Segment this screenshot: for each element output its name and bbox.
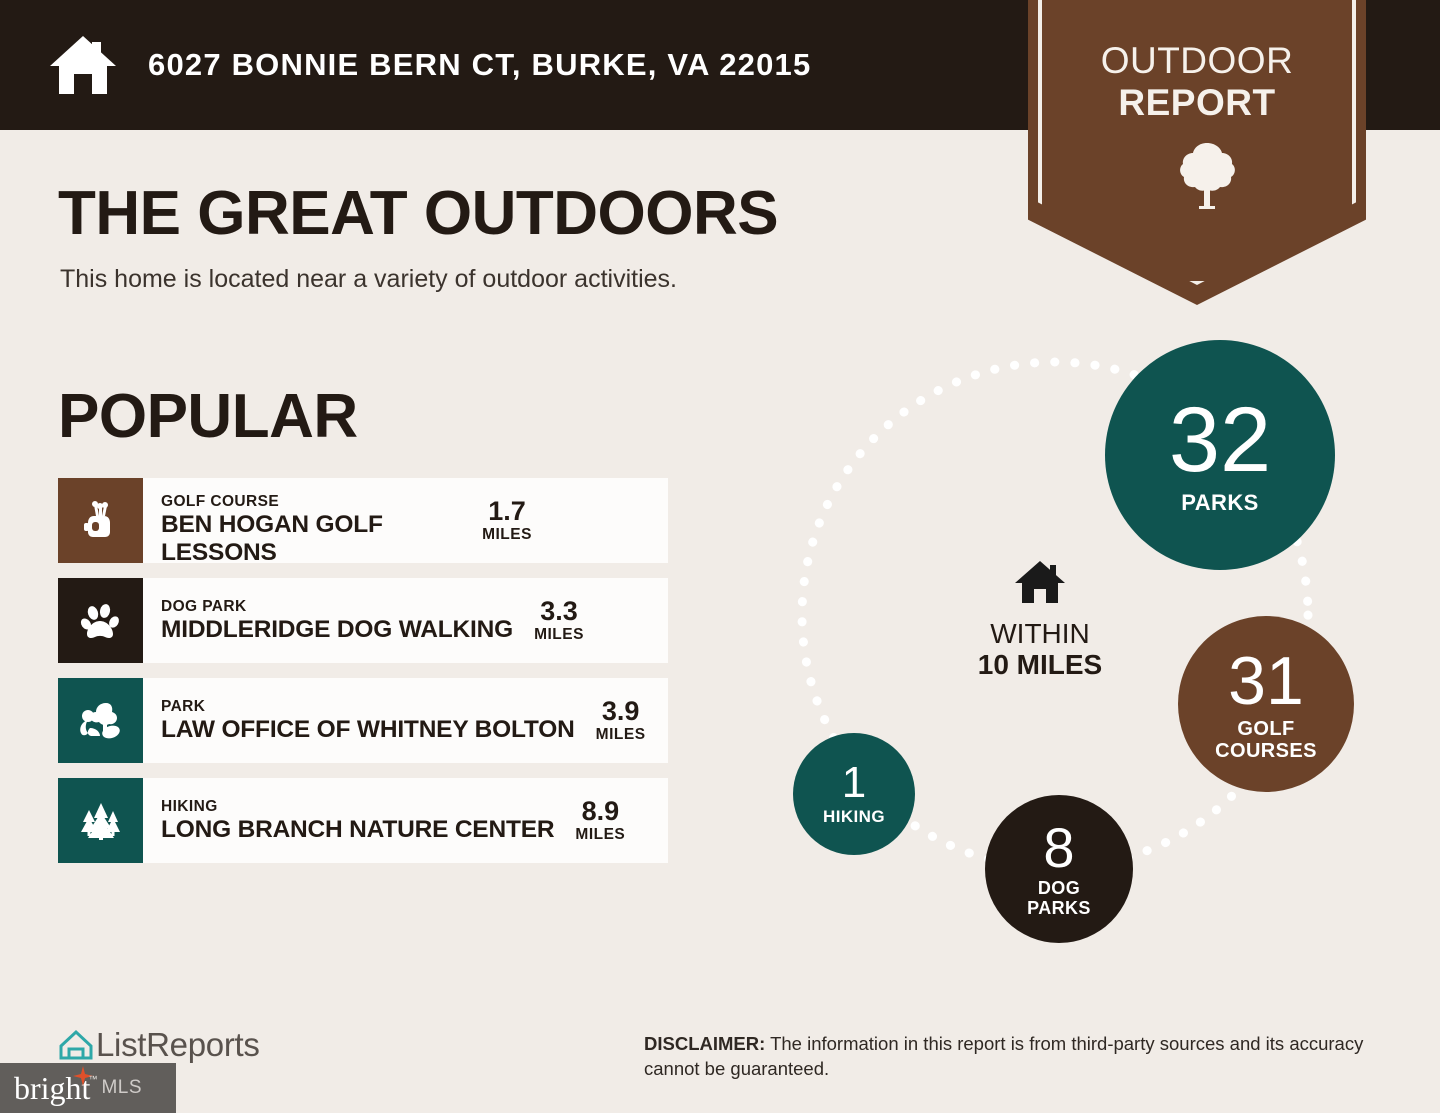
distance-value: 3.9 bbox=[581, 697, 661, 726]
popular-heading: POPULAR bbox=[58, 381, 358, 452]
distance-value: 8.9 bbox=[560, 797, 640, 826]
bubble-count: 31 bbox=[1228, 647, 1304, 715]
outdoor-report-page: 6027 BONNIE BERN CT, BURKE, VA 22015 OUT… bbox=[0, 0, 1440, 1113]
list-item-text: GOLF COURSE BEN HOGAN GOLF LESSONS bbox=[143, 478, 467, 563]
list-item-distance: 8.9 MILES bbox=[560, 797, 646, 844]
distance-value: 1.7 bbox=[467, 497, 547, 526]
list-item-distance: 3.3 MILES bbox=[519, 597, 605, 644]
page-subtitle: This home is located near a variety of o… bbox=[60, 265, 677, 294]
page-title: THE GREAT OUTDOORS bbox=[58, 178, 778, 249]
home-icon bbox=[46, 28, 120, 102]
list-item-category: GOLF COURSE bbox=[161, 492, 461, 511]
listreports-logo[interactable]: ListReports bbox=[58, 1026, 260, 1064]
tree-icon bbox=[1177, 140, 1237, 210]
outdoor-report-badge: OUTDOOR REPORT bbox=[1028, 0, 1366, 305]
list-item-icon-tile bbox=[58, 678, 143, 763]
bubble-golf-courses[interactable]: 31 GOLF COURSES bbox=[1178, 616, 1354, 792]
golf-bag-icon bbox=[78, 498, 124, 544]
badge-title: OUTDOOR REPORT bbox=[1028, 40, 1366, 124]
disclaimer-label: DISCLAIMER: bbox=[644, 1033, 765, 1054]
bubble-label: HIKING bbox=[823, 807, 885, 827]
list-item-text: PARK LAW OFFICE OF WHITNEY BOLTON bbox=[143, 697, 581, 744]
trademark-symbol: ™ bbox=[88, 1062, 97, 1096]
bright-mls-watermark: bright ™ MLS bbox=[0, 1063, 176, 1113]
property-address: 6027 BONNIE BERN CT, BURKE, VA 22015 bbox=[148, 47, 811, 83]
list-item[interactable]: HIKING LONG BRANCH NATURE CENTER 8.9 MIL… bbox=[58, 778, 668, 863]
popular-list: GOLF COURSE BEN HOGAN GOLF LESSONS 1.7 M… bbox=[58, 478, 668, 878]
list-item[interactable]: DOG PARK MIDDLERIDGE DOG WALKING 3.3 MIL… bbox=[58, 578, 668, 663]
bright-mls-brand: bright ™ bbox=[14, 1071, 90, 1105]
bubble-label-line1: DOG bbox=[1038, 878, 1080, 898]
distance-unit: MILES bbox=[519, 626, 599, 644]
park-trees-icon bbox=[78, 698, 124, 744]
bubble-count: 8 bbox=[1043, 820, 1074, 876]
badge-line2: REPORT bbox=[1028, 82, 1366, 124]
bubble-label: PARKS bbox=[1181, 490, 1258, 516]
nearby-bubble-diagram: 32 PARKS 31 GOLF COURSES 8 DOG PARKS 1 H… bbox=[760, 320, 1400, 960]
list-item-icon-tile bbox=[58, 578, 143, 663]
within-label-line1: WITHIN bbox=[960, 618, 1120, 649]
house-outline-icon bbox=[58, 1028, 94, 1062]
list-item-body: HIKING LONG BRANCH NATURE CENTER 8.9 MIL… bbox=[143, 778, 668, 863]
bubble-count: 1 bbox=[842, 761, 866, 805]
list-item[interactable]: PARK LAW OFFICE OF WHITNEY BOLTON 3.9 MI… bbox=[58, 678, 668, 763]
distance-unit: MILES bbox=[560, 826, 640, 844]
within-label-line2: 10 MILES bbox=[960, 649, 1120, 680]
list-item-name: LONG BRANCH NATURE CENTER bbox=[161, 816, 554, 844]
listreports-wordmark: ListReports bbox=[96, 1026, 260, 1064]
list-item[interactable]: GOLF COURSE BEN HOGAN GOLF LESSONS 1.7 M… bbox=[58, 478, 668, 563]
list-item-text: HIKING LONG BRANCH NATURE CENTER bbox=[143, 797, 560, 844]
bubble-parks[interactable]: 32 PARKS bbox=[1105, 340, 1335, 570]
home-icon bbox=[1013, 558, 1067, 606]
list-item-distance: 3.9 MILES bbox=[581, 697, 667, 744]
list-item-name: BEN HOGAN GOLF LESSONS bbox=[161, 511, 461, 563]
bubble-count: 32 bbox=[1169, 394, 1271, 486]
bubble-hiking[interactable]: 1 HIKING bbox=[793, 733, 915, 855]
list-item-distance: 1.7 MILES bbox=[467, 497, 553, 544]
within-radius-block: WITHIN 10 MILES bbox=[960, 558, 1120, 680]
list-item-body: DOG PARK MIDDLERIDGE DOG WALKING 3.3 MIL… bbox=[143, 578, 668, 663]
list-item-category: HIKING bbox=[161, 797, 554, 816]
paw-print-icon bbox=[78, 598, 124, 644]
bubble-label-line1: GOLF bbox=[1237, 718, 1294, 740]
bubble-label: DOG PARKS bbox=[1027, 878, 1091, 918]
list-item-body: PARK LAW OFFICE OF WHITNEY BOLTON 3.9 MI… bbox=[143, 678, 668, 763]
distance-value: 3.3 bbox=[519, 597, 599, 626]
distance-unit: MILES bbox=[581, 726, 661, 744]
list-item-category: PARK bbox=[161, 697, 575, 716]
bubble-label-line2: COURSES bbox=[1215, 740, 1317, 762]
bright-mls-sub: MLS bbox=[101, 1077, 142, 1099]
list-item-name: MIDDLERIDGE DOG WALKING bbox=[161, 616, 513, 644]
bubble-label: GOLF COURSES bbox=[1215, 718, 1317, 762]
list-item-category: DOG PARK bbox=[161, 597, 513, 616]
list-item-body: GOLF COURSE BEN HOGAN GOLF LESSONS 1.7 M… bbox=[143, 478, 668, 563]
bubble-dog-parks[interactable]: 8 DOG PARKS bbox=[985, 795, 1133, 943]
pine-trees-icon bbox=[78, 798, 124, 844]
list-item-name: LAW OFFICE OF WHITNEY BOLTON bbox=[161, 716, 575, 744]
distance-unit: MILES bbox=[467, 526, 547, 544]
disclaimer: DISCLAIMER: The information in this repo… bbox=[644, 1031, 1389, 1081]
list-item-text: DOG PARK MIDDLERIDGE DOG WALKING bbox=[143, 597, 519, 644]
bubble-label-line2: PARKS bbox=[1027, 898, 1091, 918]
list-item-icon-tile bbox=[58, 778, 143, 863]
list-item-icon-tile bbox=[58, 478, 143, 563]
badge-line1: OUTDOOR bbox=[1028, 40, 1366, 82]
